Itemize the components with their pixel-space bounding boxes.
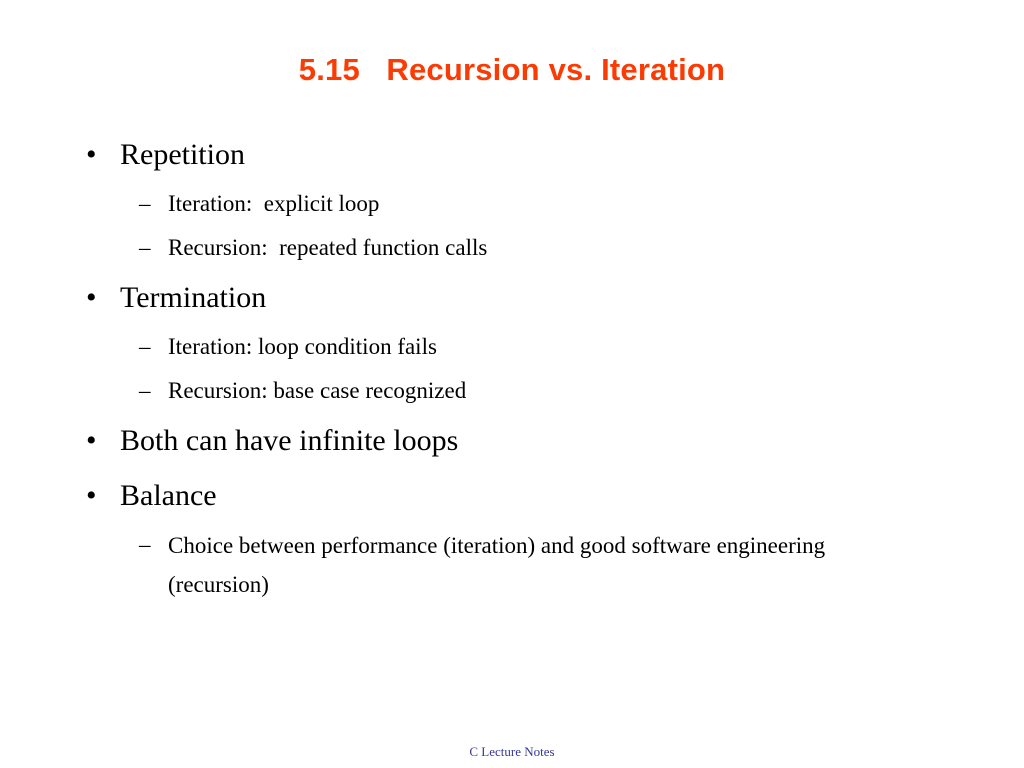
slide-title: 5.15 Recursion vs. Iteration [0,51,1024,89]
bullet-marker-icon: • [86,413,106,468]
bullet-label: Both can have infinite loops [120,424,458,457]
bullet-item-termination: • Termination [0,270,1024,325]
slide-footer: C Lecture Notes [0,744,1024,760]
dash-marker-icon: – [139,325,161,369]
bullet-item-balance: • Balance [0,468,1024,523]
bullet-label: Termination [120,281,266,314]
dash-marker-icon: – [139,182,161,226]
bullet-marker-icon: • [86,468,106,523]
bullet-item-repetition: • Repetition [0,127,1024,182]
sub-bullet-item-iteration-explicit-loop: – Iteration: explicit loop [0,182,1024,226]
bullet-marker-icon: • [86,127,106,182]
sub-bullet-label: Iteration: explicit loop [168,182,916,226]
sub-bullet-label: Recursion: repeated function calls [168,226,916,270]
sub-bullet-item-choice-performance-engineering: – Choice between performance (iteration)… [0,523,1024,604]
bullet-label: Repetition [120,138,245,171]
slide-body-outline: • Repetition – Iteration: explicit loop … [0,127,1024,604]
dash-marker-icon: – [139,226,161,270]
sub-bullet-label: Iteration: loop condition fails [168,325,916,369]
bullet-marker-icon: • [86,270,106,325]
bullet-label: Balance [120,479,217,512]
dash-marker-icon: – [139,369,161,413]
sub-bullet-item-recursion-repeated-calls: – Recursion: repeated function calls [0,226,1024,270]
sub-bullet-item-recursion-base-case: – Recursion: base case recognized [0,369,1024,413]
bullet-item-infinite-loops: • Both can have infinite loops [0,413,1024,468]
sub-bullet-label: Choice between performance (iteration) a… [168,523,916,604]
slide: 5.15 Recursion vs. Iteration • Repetitio… [0,0,1024,768]
dash-marker-icon: – [139,523,161,567]
sub-bullet-item-iteration-loop-condition: – Iteration: loop condition fails [0,325,1024,369]
sub-bullet-label: Recursion: base case recognized [168,369,916,413]
